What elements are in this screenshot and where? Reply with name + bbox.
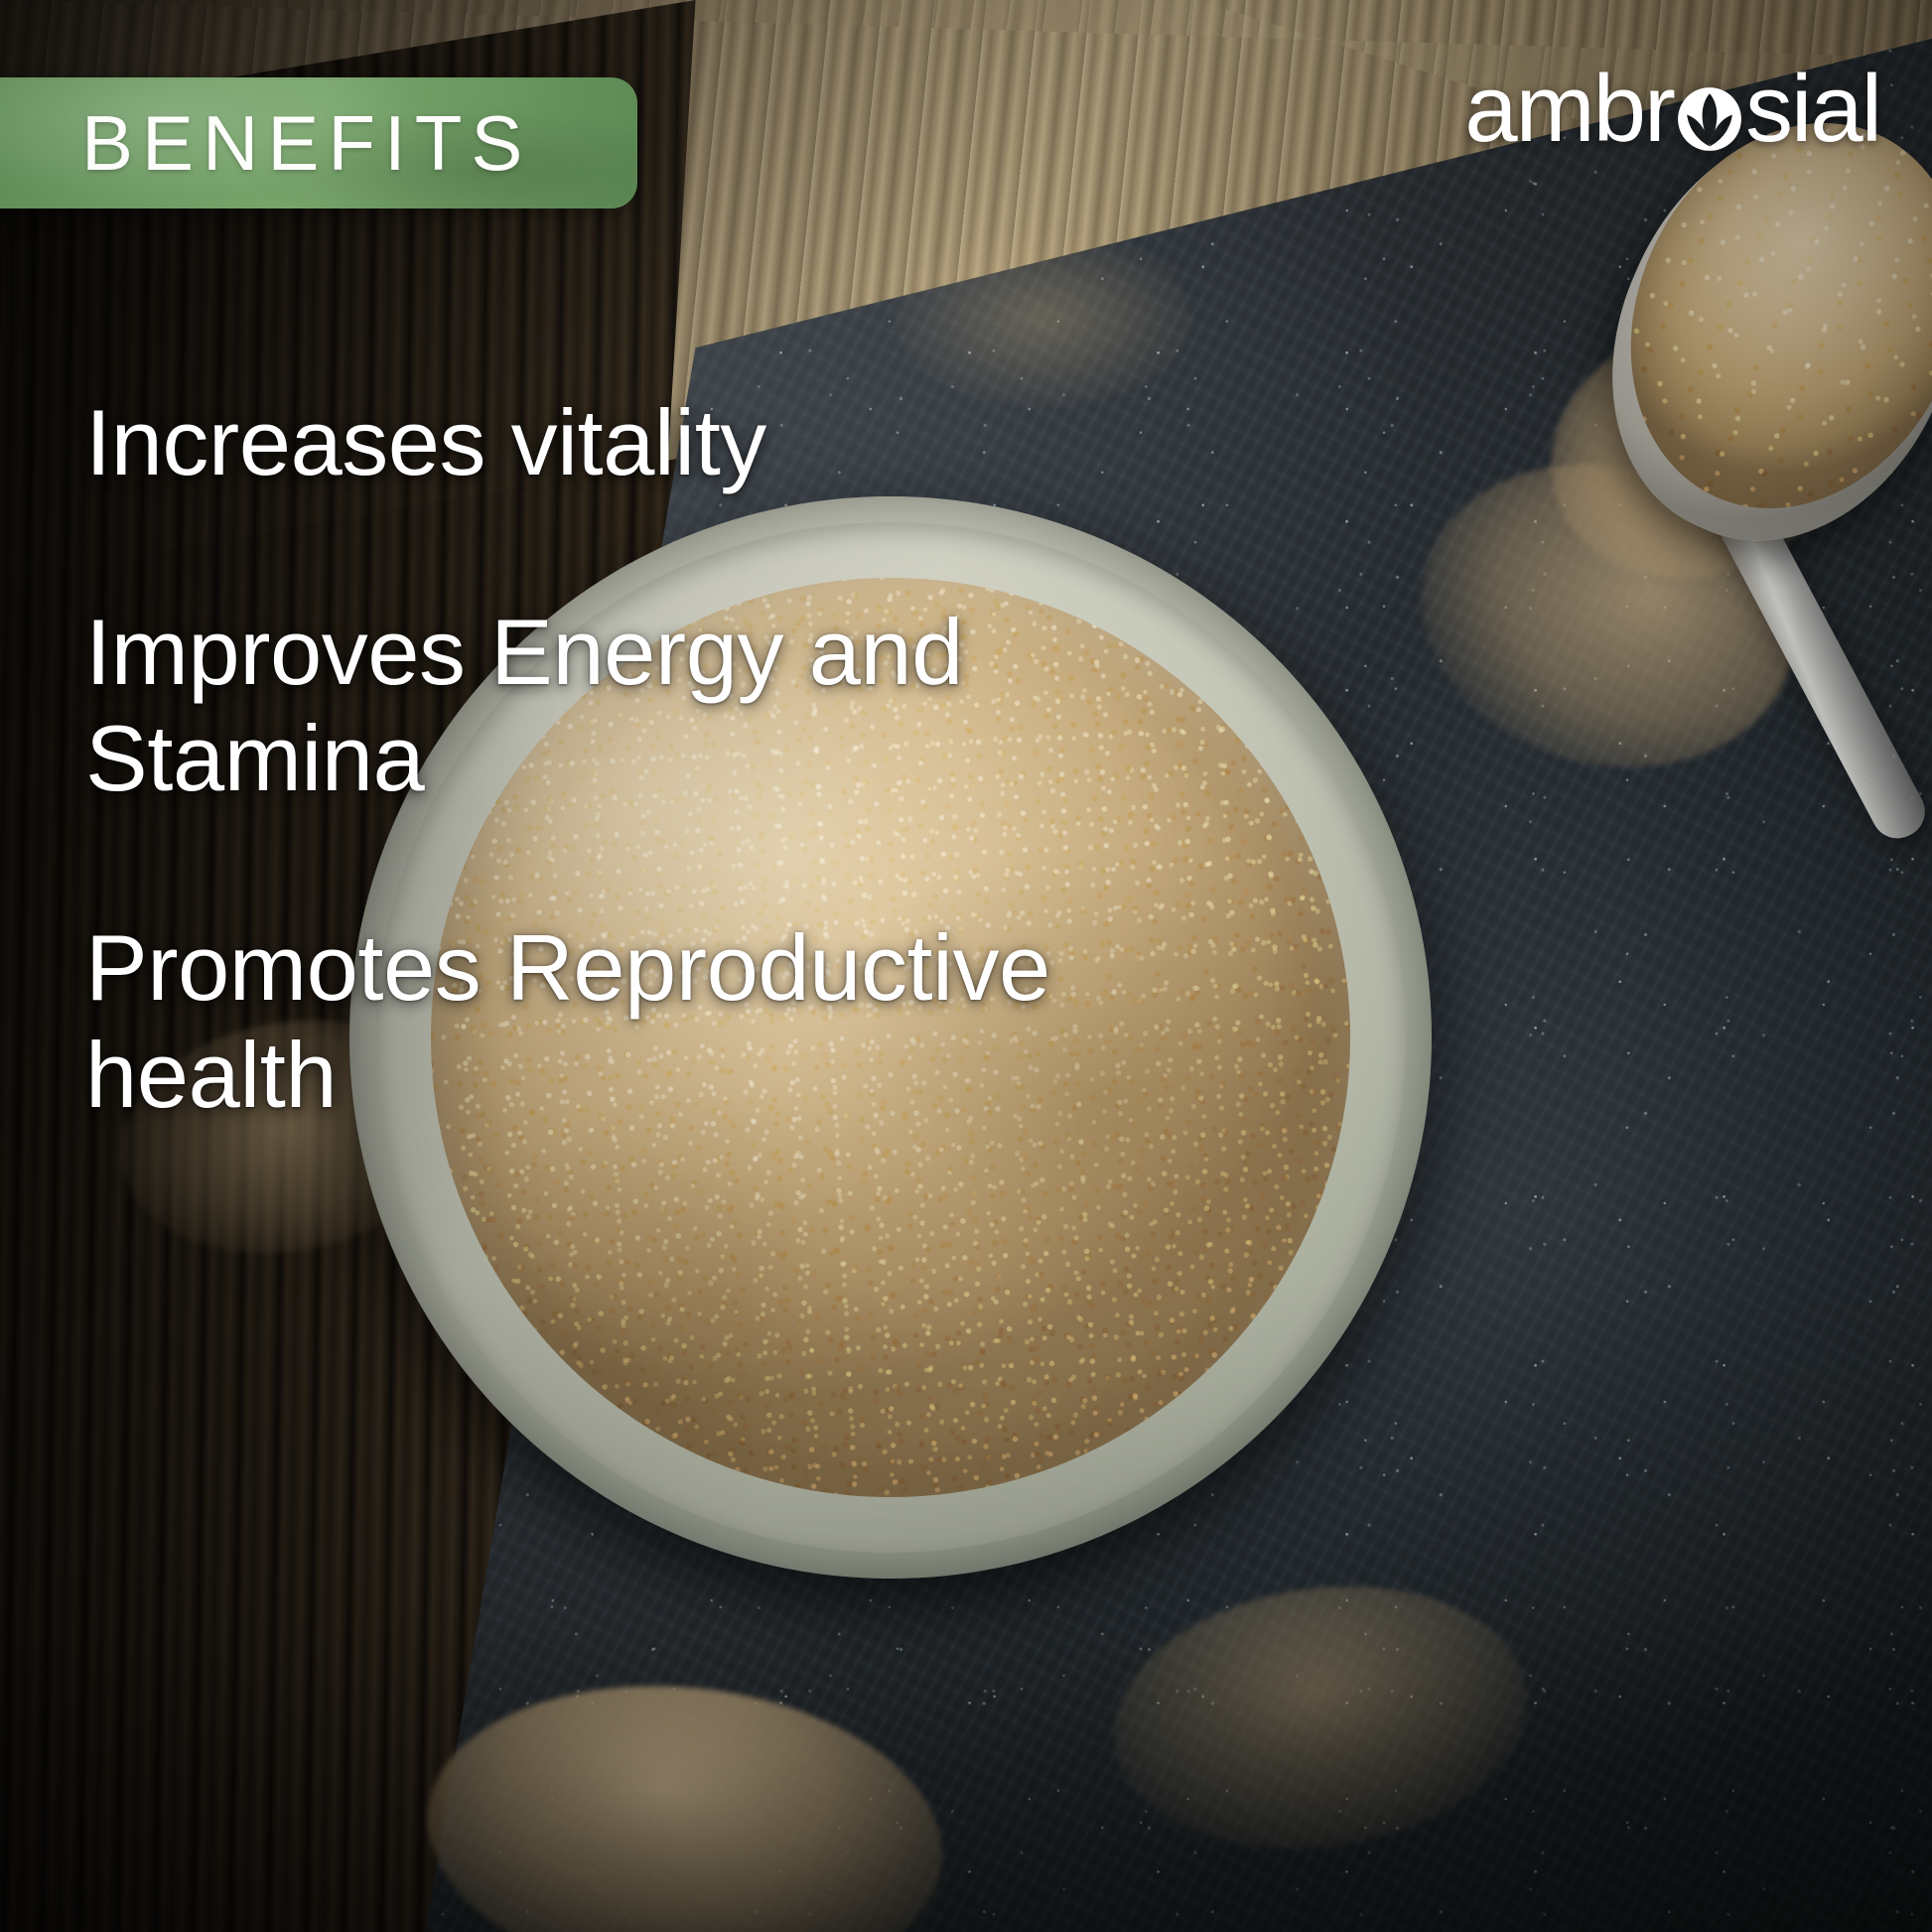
benefits-list: Increases vitality Improves Energy and S… xyxy=(85,389,1257,1128)
benefits-banner-label: BENEFITS xyxy=(81,104,531,182)
poster-content: BENEFITS ambr sial xyxy=(0,0,1932,1932)
benefits-banner: BENEFITS xyxy=(0,77,637,208)
benefit-item: Promotes Reproductive health xyxy=(85,914,1058,1127)
poster-canvas: BENEFITS ambr sial xyxy=(0,0,1932,1932)
brand-logo: ambr sial xyxy=(1464,62,1880,157)
leaf-in-circle-icon xyxy=(1672,81,1747,157)
benefit-item: Increases vitality xyxy=(85,389,909,495)
benefit-item: Improves Energy and Stamina xyxy=(85,599,1058,811)
brand-name-suffix: sial xyxy=(1745,62,1880,157)
brand-name-prefix: ambr xyxy=(1464,62,1674,157)
